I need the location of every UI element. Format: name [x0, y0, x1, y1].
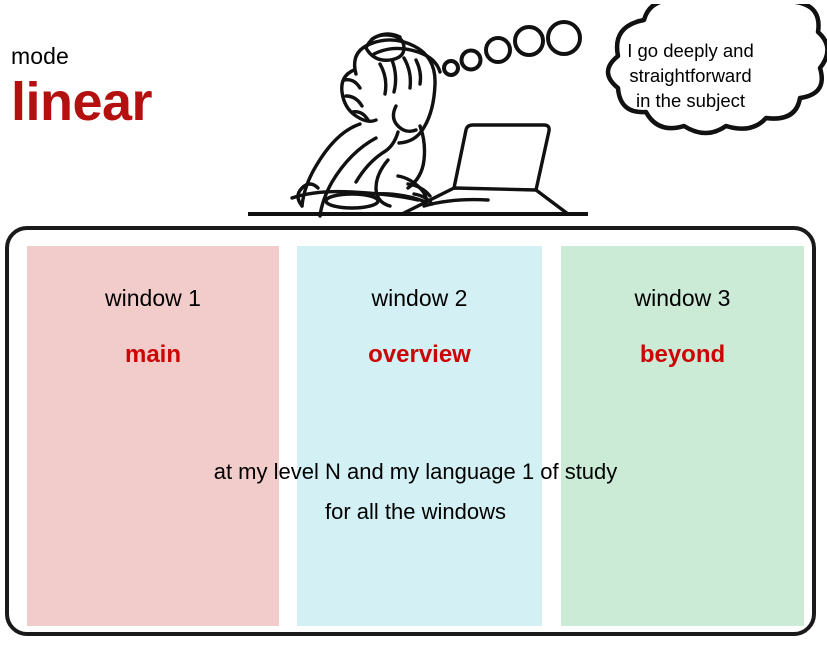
thought-line-1: I go deeply and [588, 38, 793, 63]
mode-block: mode linear [11, 42, 241, 132]
thought-dot-2 [462, 51, 481, 70]
thought-dot-3 [486, 38, 510, 62]
window-panel-3[interactable]: window 3 beyond [561, 246, 804, 626]
mode-title: linear [11, 72, 241, 132]
thought-line-2: straightforward [588, 63, 793, 88]
mode-kicker-label: mode [11, 42, 241, 70]
windows-container: window 1 main window 2 overview window 3… [5, 226, 816, 636]
window-panel-2[interactable]: window 2 overview [297, 246, 542, 626]
thought-dot-4 [515, 27, 543, 55]
window-panel-1-title: window 1 [27, 284, 279, 312]
window-panel-1-role: main [27, 340, 279, 370]
thought-dot-1 [444, 61, 458, 75]
thought-line-3: in the subject [588, 88, 793, 113]
window-panel-3-title: window 3 [561, 284, 804, 312]
window-panel-1[interactable]: window 1 main [27, 246, 279, 626]
window-panel-3-role: beyond [561, 340, 804, 370]
window-panel-2-title: window 2 [297, 284, 542, 312]
window-panel-2-role: overview [297, 340, 542, 370]
thought-bubble-text: I go deeply and straightforward in the s… [588, 38, 793, 113]
